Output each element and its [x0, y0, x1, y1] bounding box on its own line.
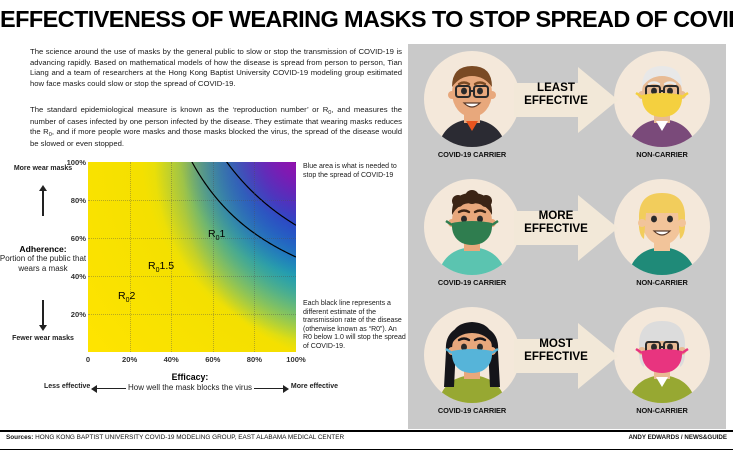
effectiveness-label-line1: MOST	[512, 337, 600, 350]
person-illustration	[424, 307, 520, 403]
gridline-horizontal	[88, 314, 296, 315]
x-tick-label: 0	[86, 355, 90, 364]
gridline-horizontal	[88, 200, 296, 201]
person-illustration	[614, 51, 710, 147]
down-arrow-icon	[42, 300, 44, 326]
effectiveness-row-2: MOREEFFECTIVECOVID-19 CARRIERNON-CARRIER	[408, 175, 726, 298]
effectiveness-label: MOSTEFFECTIVE	[512, 337, 600, 363]
effectiveness-label-line1: LEAST	[512, 81, 600, 94]
contour-label-2: R02	[118, 290, 135, 302]
gridline-vertical	[130, 162, 131, 352]
blue-area-note: Blue area is what is needed to stop the …	[303, 163, 403, 180]
r0-contour-2	[191, 162, 296, 257]
non-carrier-avatar	[614, 307, 710, 403]
sources-line: Sources: HONG KONG BAPTIST UNIVERSITY CO…	[6, 434, 344, 441]
r0-contour-curves	[88, 162, 296, 352]
person-illustration	[424, 51, 520, 147]
effectiveness-label-line2: EFFECTIVE	[512, 222, 600, 235]
effectiveness-label-line2: EFFECTIVE	[512, 350, 600, 363]
carrier-caption: COVID-19 CARRIER	[407, 278, 537, 287]
non-carrier-caption: NON-CARRIER	[597, 150, 727, 159]
para2-sub2: 0	[49, 132, 52, 138]
y-tick-label: 40%	[52, 272, 86, 281]
page-title: EFFECTIVENESS OF WEARING MASKS TO STOP S…	[0, 6, 733, 33]
effectiveness-label: LEASTEFFECTIVE	[512, 81, 600, 107]
black-line-note: Each black line represents a different e…	[303, 300, 407, 352]
gridline-vertical	[171, 162, 172, 352]
gridline-horizontal	[88, 238, 296, 239]
contour-label-1.5: R01.5	[148, 260, 174, 272]
x-axis-caption: Efficacy: How well the mask blocks the v…	[40, 372, 340, 405]
y-tick-label: 100%	[52, 158, 86, 167]
x-tick-label: 100%	[286, 355, 305, 364]
credit-line: ANDY EDWARDS / NEWS&GUIDE	[628, 434, 727, 441]
bottom-rule	[0, 449, 733, 450]
y-tick-label: 20%	[52, 310, 86, 319]
non-carrier-caption: NON-CARRIER	[597, 278, 727, 287]
x-axis-ticks: 020%40%60%80%100%	[88, 355, 296, 367]
carrier-caption: COVID-19 CARRIER	[407, 150, 537, 159]
gridline-horizontal	[88, 276, 296, 277]
x-axis-left-label: Less effective	[44, 383, 90, 390]
x-axis-title: Efficacy:	[40, 372, 340, 382]
gridline-vertical	[213, 162, 214, 352]
heatmap-plot-area	[88, 162, 296, 352]
gridline-vertical	[254, 162, 255, 352]
contour-label-1: R01	[208, 228, 225, 240]
footer-divider	[0, 430, 733, 432]
non-carrier-caption: NON-CARRIER	[597, 406, 727, 415]
intro-paragraph: The science around the use of masks by t…	[30, 47, 402, 89]
carrier-avatar	[424, 179, 520, 275]
carrier-caption: COVID-19 CARRIER	[407, 406, 537, 415]
r0-contour-1.5	[224, 162, 296, 225]
left-arrow-icon	[96, 388, 126, 389]
person-illustration	[614, 179, 710, 275]
effectiveness-row-3: MOSTEFFECTIVECOVID-19 CARRIERNON-CARRIER	[408, 303, 726, 426]
y-axis-ticks: 20%40%60%80%100%	[48, 162, 86, 352]
effectiveness-panel: LEASTEFFECTIVECOVID-19 CARRIERNON-CARRIE…	[408, 44, 726, 429]
sources-text: HONG KONG BAPTIST UNIVERSITY COVID-19 MO…	[35, 434, 344, 441]
person-illustration	[424, 179, 520, 275]
non-carrier-avatar	[614, 51, 710, 147]
para2-sub1: 0	[328, 110, 331, 116]
effectiveness-label-line1: MORE	[512, 209, 600, 222]
y-tick-label: 80%	[52, 196, 86, 205]
para2-part1: The standard epidemiological measure is …	[30, 105, 328, 114]
effectiveness-label: MOREEFFECTIVE	[512, 209, 600, 235]
carrier-avatar	[424, 307, 520, 403]
up-arrow-icon	[42, 190, 44, 216]
sources-label: Sources:	[6, 434, 33, 441]
carrier-avatar	[424, 51, 520, 147]
reproduction-number-paragraph: The standard epidemiological measure is …	[30, 105, 402, 149]
infographic-page: EFFECTIVENESS OF WEARING MASKS TO STOP S…	[0, 0, 733, 452]
x-tick-label: 60%	[205, 355, 220, 364]
x-tick-label: 40%	[164, 355, 179, 364]
effectiveness-label-line2: EFFECTIVE	[512, 94, 600, 107]
right-arrow-icon	[254, 388, 284, 389]
x-axis-arrow-row: How well the mask blocks the virus Less …	[40, 383, 340, 405]
x-axis-right-label: More effective	[291, 383, 338, 390]
non-carrier-avatar	[614, 179, 710, 275]
effectiveness-row-1: LEASTEFFECTIVECOVID-19 CARRIERNON-CARRIE…	[408, 47, 726, 170]
y-tick-label: 60%	[52, 234, 86, 243]
person-illustration	[614, 307, 710, 403]
x-tick-label: 80%	[247, 355, 262, 364]
x-tick-label: 20%	[122, 355, 137, 364]
mask-effectiveness-chart: More wear masks Adherence: Portion of th…	[0, 150, 410, 405]
para2-part3: , and if more people wore masks and thos…	[30, 127, 402, 148]
